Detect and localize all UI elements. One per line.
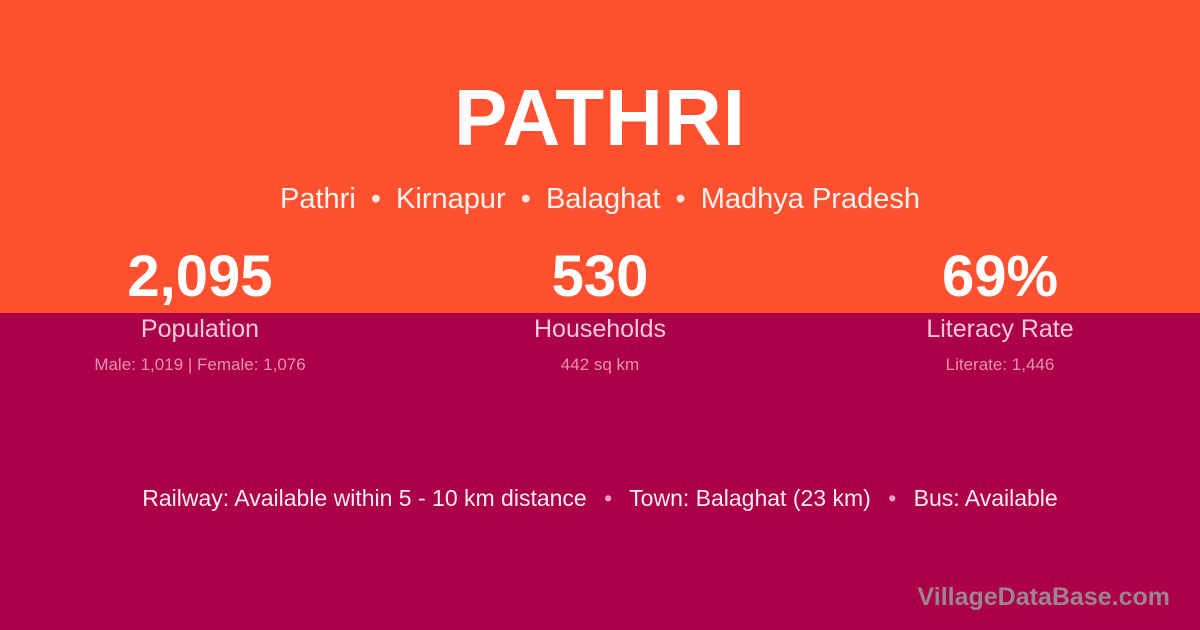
stat-literacy-rate: 69% Literacy Rate Literate: 1,446 [800,243,1200,376]
stat-value: 530 [400,243,800,310]
breadcrumb-village: Pathri [280,183,356,215]
stat-value: 69% [800,243,1200,310]
stat-label: Population [0,314,400,344]
breadcrumb: Pathri • Kirnapur • Balaghat • Madhya Pr… [0,182,1200,217]
facilities-row: Railway: Available within 5 - 10 km dist… [0,484,1200,514]
site-brand: VillageDataBase.com [918,582,1170,612]
breadcrumb-separator: • [514,183,538,215]
facility-separator: • [877,485,907,511]
facility-separator: • [593,485,623,511]
stat-subtext: Male: 1,019 | Female: 1,076 [0,355,400,375]
stat-value: 2,095 [0,243,400,310]
stat-label: Literacy Rate [800,314,1200,344]
stats-row: 2,095 Population Male: 1,019 | Female: 1… [0,243,1200,376]
page-title: PATHRI [0,78,1200,158]
facility-railway: Railway: Available within 5 - 10 km dist… [142,485,586,511]
stat-label: Households [400,314,800,344]
stat-households: 530 Households 442 sq km [400,243,800,376]
breadcrumb-state: Madhya Pradesh [701,183,920,215]
breadcrumb-separator: • [364,183,388,215]
breadcrumb-district: Balaghat [546,183,661,215]
stat-population: 2,095 Population Male: 1,019 | Female: 1… [0,243,400,376]
breadcrumb-block: Kirnapur [396,183,506,215]
facility-bus: Bus: Available [914,485,1058,511]
stat-subtext: 442 sq km [400,355,800,375]
village-info-card: PATHRI Pathri • Kirnapur • Balaghat • Ma… [0,0,1200,630]
breadcrumb-separator: • [669,183,693,215]
stat-subtext: Literate: 1,446 [800,355,1200,375]
facility-town: Town: Balaghat (23 km) [629,485,871,511]
